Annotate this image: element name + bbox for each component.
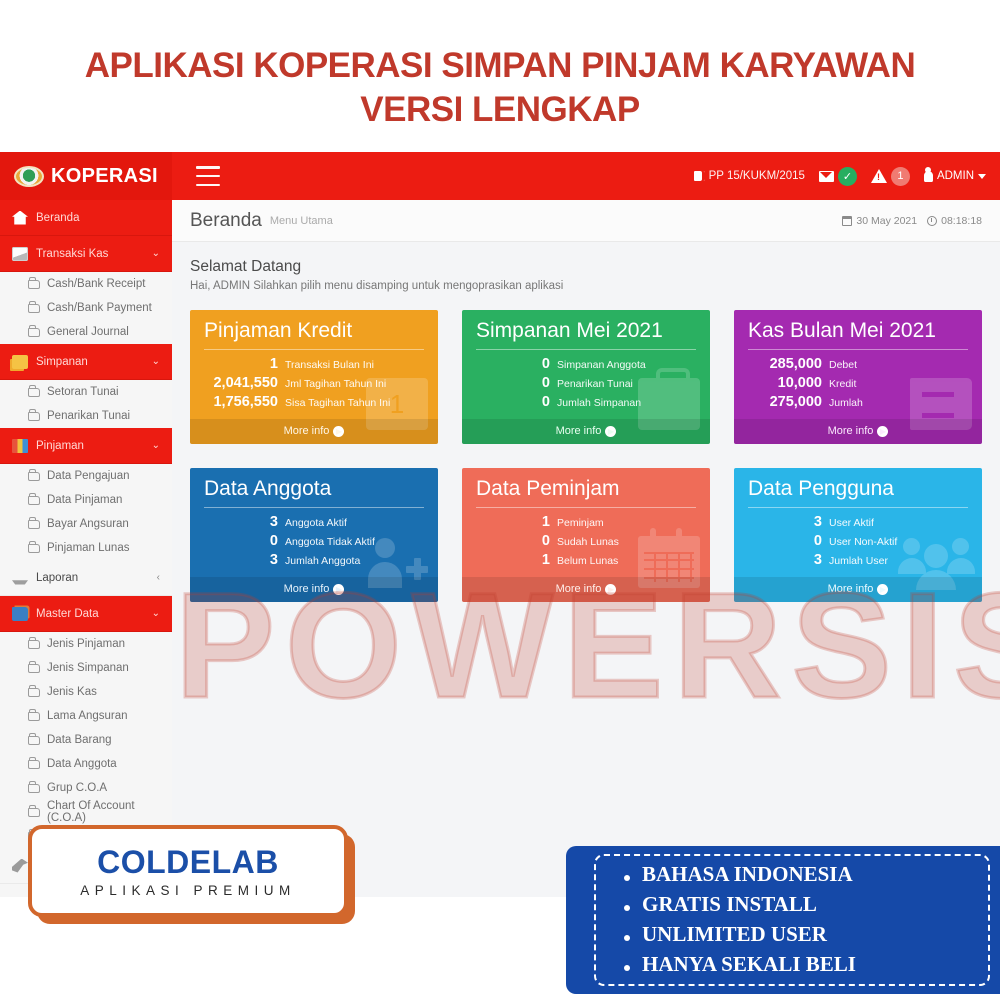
arrow-right-icon: ▶ <box>877 584 888 595</box>
sidebar-item-label: Pinjaman <box>36 440 144 452</box>
folder-icon <box>28 304 40 313</box>
dashboard-card-kas-bulan-mei-2021[interactable]: Kas Bulan Mei 2021285,000Debet10,000Kred… <box>734 310 982 444</box>
message-status-badge: ✓ <box>838 167 857 186</box>
card-more-info-label: More info <box>556 583 602 595</box>
card-stat-label: Sudah Lunas <box>557 536 619 548</box>
sidebar-subitem-data-anggota[interactable]: Data Anggota <box>0 752 172 776</box>
dashboard-card-simpanan-mei-2021[interactable]: Simpanan Mei 20210Simpanan Anggota0Penar… <box>462 310 710 444</box>
report-icon <box>12 571 28 585</box>
card-stat: 0Sudah Lunas <box>476 533 696 549</box>
card-stat-value: 1,756,550 <box>204 394 278 410</box>
card-stat: 10,000Kredit <box>748 375 968 391</box>
card-stat-label: Belum Lunas <box>557 555 618 567</box>
koperasi-logo-icon <box>14 166 44 187</box>
folder-icon <box>28 712 40 721</box>
card-stat-value: 3 <box>748 552 822 568</box>
sidebar-item-label: Laporan <box>36 572 149 584</box>
dashboard-card-pinjaman-kredit[interactable]: Pinjaman Kredit1Transaksi Bulan Ini2,041… <box>190 310 438 444</box>
clock-icon <box>927 216 937 226</box>
card-stat: 0Anggota Tidak Aktif <box>204 533 424 549</box>
sidebar-item-label: Beranda <box>36 212 160 224</box>
date-chip: 30 May 2021 <box>842 215 917 227</box>
card-stat: 1Peminjam <box>476 514 696 530</box>
folder-icon <box>28 412 40 421</box>
sidebar-subitem-label: Cash/Bank Payment <box>47 302 152 314</box>
feature-item: HANYA SEKALI BELI <box>606 950 974 980</box>
card-stat-value: 275,000 <box>748 394 822 410</box>
folder-icon <box>28 520 40 529</box>
sidebar-subitem-jenis-pinjaman[interactable]: Jenis Pinjaman <box>0 632 172 656</box>
cash-register-icon <box>12 247 28 261</box>
feature-label: HANYA SEKALI BELI <box>642 950 856 980</box>
page-title: Beranda <box>190 210 262 232</box>
card-stat: 3User Aktif <box>748 514 968 530</box>
wrench-icon <box>12 859 28 873</box>
sidebar-subitem-pinjaman-lunas[interactable]: Pinjaman Lunas <box>0 536 172 560</box>
sidebar-subitem-label: Data Pinjaman <box>47 494 122 506</box>
sidebar-subitem-label: Pinjaman Lunas <box>47 542 129 554</box>
card-stat-label: Jumlah Simpanan <box>557 397 641 409</box>
promo-headline-line2: VERSI LENGKAP <box>0 88 1000 132</box>
money-bag-icon <box>12 355 28 369</box>
card-stat-value: 0 <box>476 356 550 372</box>
card-stat-value: 0 <box>476 375 550 391</box>
coldelab-badge: COLDELAB APLIKASI PREMIUM <box>28 825 348 917</box>
user-name-label: ADMIN <box>937 170 974 182</box>
card-more-info-label: More info <box>556 425 602 437</box>
sidebar-subitem-label: Lama Angsuran <box>47 710 128 722</box>
chevron-icon: ⌄ <box>152 248 160 259</box>
bullet-icon <box>624 935 630 941</box>
warning-icon <box>871 169 887 183</box>
sidebar-subitem-data-pinjaman[interactable]: Data Pinjaman <box>0 488 172 512</box>
topbar-right-group: PP 15/KUKM/2015 ✓ 1 ADMIN <box>694 152 986 200</box>
sidebar-subitem-label: Jenis Pinjaman <box>47 638 125 650</box>
regulation-label: PP 15/KUKM/2015 <box>709 170 805 182</box>
hamburger-bar <box>196 175 220 178</box>
sidebar-subitem-bayar-angsuran[interactable]: Bayar Angsuran <box>0 512 172 536</box>
envelope-icon <box>819 171 834 182</box>
card-stat: 0User Non-Aktif <box>748 533 968 549</box>
folder-icon <box>28 688 40 697</box>
top-navbar: KOPERASI PP 15/KUKM/2015 ✓ 1 <box>0 152 1000 200</box>
main-content: Beranda Menu Utama 30 May 2021 08:18:18 … <box>172 200 1000 897</box>
card-stat-value: 285,000 <box>748 356 822 372</box>
promo-headline: APLIKASI KOPERASI SIMPAN PINJAM KARYAWAN… <box>0 44 1000 132</box>
features-list: BAHASA INDONESIAGRATIS INSTALLUNLIMITED … <box>606 860 974 979</box>
card-stat-label: User Non-Aktif <box>829 536 897 548</box>
welcome-text: Hai, ADMIN Silahkan pilih menu disamping… <box>190 280 982 292</box>
features-dashed-frame: BAHASA INDONESIAGRATIS INSTALLUNLIMITED … <box>594 854 990 986</box>
sidebar-subitem-label: Setoran Tunai <box>47 386 119 398</box>
card-stat-label: User Aktif <box>829 517 874 529</box>
card-more-info-link[interactable]: More info▶ <box>462 577 710 602</box>
dashboard-cards: Pinjaman Kredit1Transaksi Bulan Ini2,041… <box>172 296 1000 602</box>
welcome-heading: Selamat Datang <box>190 258 982 276</box>
card-stat-value: 0 <box>476 394 550 410</box>
card-stat-label: Jml Tagihan Tahun Ini <box>285 378 386 390</box>
notifications-button[interactable]: 1 <box>871 167 910 186</box>
coldelab-tagline: APLIKASI PREMIUM <box>80 883 296 898</box>
card-title: Pinjaman Kredit <box>204 319 424 350</box>
user-menu[interactable]: ADMIN <box>924 170 986 182</box>
sidebar-item-transaksi-kas[interactable]: Transaksi Kas⌄ <box>0 236 172 272</box>
sidebar-subitem-label: Data Pengajuan <box>47 470 129 482</box>
folder-icon <box>28 664 40 673</box>
poster-root: APLIKASI KOPERASI SIMPAN PINJAM KARYAWAN… <box>0 0 1000 1000</box>
card-stat-label: Kredit <box>829 378 856 390</box>
card-stat-value: 3 <box>204 552 278 568</box>
card-stat-label: Simpanan Anggota <box>557 359 646 371</box>
promo-headline-line1: APLIKASI KOPERASI SIMPAN PINJAM KARYAWAN <box>85 46 915 85</box>
folder-icon <box>28 280 40 289</box>
sidebar-subitem-penarikan-tunai[interactable]: Penarikan Tunai <box>0 404 172 428</box>
card-body: Data Anggota3Anggota Aktif0Anggota Tidak… <box>190 468 438 577</box>
brand-name: KOPERASI <box>51 165 158 188</box>
card-stat-label: Penarikan Tunai <box>557 378 633 390</box>
feature-item: BAHASA INDONESIA <box>606 860 974 890</box>
bullet-icon <box>624 905 630 911</box>
feature-label: GRATIS INSTALL <box>642 890 817 920</box>
sidebar-subitem-label: Chart Of Account (C.O.A) <box>47 800 172 824</box>
sidebar-subitem-data-barang[interactable]: Data Barang <box>0 728 172 752</box>
sidebar-subitem-grup-c-o-a[interactable]: Grup C.O.A <box>0 776 172 800</box>
sidebar-subitem-label: General Journal <box>47 326 129 338</box>
card-more-info-link[interactable]: More info▶ <box>190 419 438 444</box>
card-title: Data Peminjam <box>476 477 696 508</box>
sidebar-item-label: Transaksi Kas <box>36 248 144 260</box>
card-stat-label: Transaksi Bulan Ini <box>285 359 374 371</box>
card-stat-label: Jumlah User <box>829 555 888 567</box>
folder-icon <box>28 784 40 793</box>
time-chip: 08:18:18 <box>927 215 982 227</box>
dashboard-card-data-peminjam[interactable]: Data Peminjam1Peminjam0Sudah Lunas1Belum… <box>462 468 710 602</box>
card-stat: 3Anggota Aktif <box>204 514 424 530</box>
current-time: 08:18:18 <box>941 215 982 227</box>
card-more-info-link[interactable]: More info▶ <box>190 577 438 602</box>
sidebar-item-beranda[interactable]: Beranda <box>0 200 172 236</box>
hamburger-bar <box>196 166 220 169</box>
calendar-icon <box>842 216 852 226</box>
card-more-info-label: More info <box>828 583 874 595</box>
card-title: Kas Bulan Mei 2021 <box>748 319 968 350</box>
sidebar-subitem-cash-bank-receipt[interactable]: Cash/Bank Receipt <box>0 272 172 296</box>
sidebar-subitem-setoran-tunai[interactable]: Setoran Tunai <box>0 380 172 404</box>
sidebar-subitem-jenis-kas[interactable]: Jenis Kas <box>0 680 172 704</box>
bullet-icon <box>624 965 630 971</box>
page-header-meta: 30 May 2021 08:18:18 <box>842 215 982 227</box>
sidebar-subitem-lama-angsuran[interactable]: Lama Angsuran <box>0 704 172 728</box>
sidebar-subitem-label: Jenis Simpanan <box>47 662 129 674</box>
card-title: Data Pengguna <box>748 477 968 508</box>
chevron-icon: ‹ <box>157 572 160 583</box>
feature-item: UNLIMITED USER <box>606 920 974 950</box>
application-window: KOPERASI PP 15/KUKM/2015 ✓ 1 <box>0 152 1000 897</box>
chevron-icon: ⌄ <box>152 356 160 367</box>
loan-icon <box>12 439 28 453</box>
card-stat-value: 0 <box>476 533 550 549</box>
feature-item: GRATIS INSTALL <box>606 890 974 920</box>
folder-icon <box>28 760 40 769</box>
master-folder-icon <box>12 607 28 621</box>
card-stat: 0Jumlah Simpanan <box>476 394 696 410</box>
card-stat-value: 0 <box>748 533 822 549</box>
card-body: Pinjaman Kredit1Transaksi Bulan Ini2,041… <box>190 310 438 419</box>
sidebar-item-master-data[interactable]: Master Data⌄ <box>0 596 172 632</box>
card-stat-value: 0 <box>204 533 278 549</box>
regulation-link[interactable]: PP 15/KUKM/2015 <box>694 170 805 182</box>
card-body: Data Pengguna3User Aktif0User Non-Aktif3… <box>734 468 982 577</box>
card-stat-label: Debet <box>829 359 857 371</box>
folder-icon <box>28 328 40 337</box>
card-stat-label: Anggota Tidak Aktif <box>285 536 375 548</box>
card-stat-label: Jumlah <box>829 397 863 409</box>
card-stat-label: Peminjam <box>557 517 604 529</box>
card-stat: 1Belum Lunas <box>476 552 696 568</box>
card-title: Simpanan Mei 2021 <box>476 319 696 350</box>
sidebar-item-laporan[interactable]: Laporan‹ <box>0 560 172 596</box>
sidebar-subitem-cash-bank-payment[interactable]: Cash/Bank Payment <box>0 296 172 320</box>
card-stat: 3Jumlah User <box>748 552 968 568</box>
feature-label: BAHASA INDONESIA <box>642 860 853 890</box>
brand-logo-area[interactable]: KOPERASI <box>0 152 172 200</box>
card-more-info-link[interactable]: More info▶ <box>734 419 982 444</box>
card-body: Data Peminjam1Peminjam0Sudah Lunas1Belum… <box>462 468 710 577</box>
book-icon <box>694 171 705 181</box>
card-more-info-label: More info <box>284 425 330 437</box>
card-more-info-link[interactable]: More info▶ <box>462 419 710 444</box>
card-stat: 3Jumlah Anggota <box>204 552 424 568</box>
notification-count-badge: 1 <box>891 167 910 186</box>
sidebar-subitem-label: Data Barang <box>47 734 112 746</box>
sidebar-subitem-label: Bayar Angsuran <box>47 518 129 530</box>
card-more-info-label: More info <box>284 583 330 595</box>
sidebar-subitem-jenis-simpanan[interactable]: Jenis Simpanan <box>0 656 172 680</box>
sidebar-toggle-button[interactable] <box>196 166 220 186</box>
sidebar-subitem-label: Penarikan Tunai <box>47 410 130 422</box>
card-stat-value: 2,041,550 <box>204 375 278 391</box>
chevron-icon: ⌄ <box>152 608 160 619</box>
card-stat-value: 1 <box>476 514 550 530</box>
feature-label: UNLIMITED USER <box>642 920 827 950</box>
card-title: Data Anggota <box>204 477 424 508</box>
card-more-info-link[interactable]: More info▶ <box>734 577 982 602</box>
current-date: 30 May 2021 <box>856 215 917 227</box>
sidebar-subitem-label: Jenis Kas <box>47 686 97 698</box>
sidebar-item-simpanan[interactable]: Simpanan⌄ <box>0 344 172 380</box>
arrow-right-icon: ▶ <box>877 426 888 437</box>
folder-icon <box>28 736 40 745</box>
card-stat-value: 1 <box>476 552 550 568</box>
card-body: Kas Bulan Mei 2021285,000Debet10,000Kred… <box>734 310 982 419</box>
arrow-right-icon: ▶ <box>605 584 616 595</box>
card-stat: 0Simpanan Anggota <box>476 356 696 372</box>
card-stat-label: Jumlah Anggota <box>285 555 360 567</box>
sidebar-item-label: Simpanan <box>36 356 144 368</box>
sidebar-subitem-label: Cash/Bank Receipt <box>47 278 145 290</box>
page-subtitle: Menu Utama <box>270 215 333 227</box>
card-body: Simpanan Mei 20210Simpanan Anggota0Penar… <box>462 310 710 419</box>
messages-button[interactable]: ✓ <box>819 167 857 186</box>
folder-icon <box>28 388 40 397</box>
page-header: Beranda Menu Utama 30 May 2021 08:18:18 <box>172 200 1000 242</box>
sidebar-subitem-data-pengajuan[interactable]: Data Pengajuan <box>0 464 172 488</box>
arrow-right-icon: ▶ <box>333 426 344 437</box>
dashboard-card-data-pengguna[interactable]: Data Pengguna3User Aktif0User Non-Aktif3… <box>734 468 982 602</box>
card-stat: 2,041,550Jml Tagihan Tahun Ini <box>204 375 424 391</box>
card-stat: 275,000Jumlah <box>748 394 968 410</box>
card-stat-label: Anggota Aktif <box>285 517 347 529</box>
card-stat: 285,000Debet <box>748 356 968 372</box>
chevron-icon: ⌄ <box>152 440 160 451</box>
features-box: BAHASA INDONESIAGRATIS INSTALLUNLIMITED … <box>566 846 1000 994</box>
folder-icon <box>28 808 40 817</box>
card-stat: 1Transaksi Bulan Ini <box>204 356 424 372</box>
user-icon <box>924 171 933 182</box>
sidebar-subitem-label: Data Anggota <box>47 758 117 770</box>
dashboard-card-data-anggota[interactable]: Data Anggota3Anggota Aktif0Anggota Tidak… <box>190 468 438 602</box>
sidebar-subitem-label: Grup C.O.A <box>47 782 107 794</box>
card-stat-value: 1 <box>204 356 278 372</box>
sidebar-subitem-chart-of-account-c-o-a-[interactable]: Chart Of Account (C.O.A) <box>0 800 172 824</box>
bullet-icon <box>624 875 630 881</box>
welcome-section: Selamat Datang Hai, ADMIN Silahkan pilih… <box>172 242 1000 296</box>
hamburger-bar <box>196 184 220 187</box>
coldelab-name: COLDELAB <box>97 844 279 881</box>
card-stat: 0Penarikan Tunai <box>476 375 696 391</box>
sidebar-item-pinjaman[interactable]: Pinjaman⌄ <box>0 428 172 464</box>
sidebar-nav[interactable]: BerandaTransaksi Kas⌄Cash/Bank ReceiptCa… <box>0 200 172 897</box>
folder-icon <box>28 472 40 481</box>
chevron-down-icon <box>978 174 986 179</box>
home-icon <box>12 211 28 225</box>
arrow-right-icon: ▶ <box>333 584 344 595</box>
arrow-right-icon: ▶ <box>605 426 616 437</box>
card-stat-value: 10,000 <box>748 375 822 391</box>
sidebar-subitem-general-journal[interactable]: General Journal <box>0 320 172 344</box>
card-stat-label: Sisa Tagihan Tahun Ini <box>285 397 390 409</box>
folder-icon <box>28 544 40 553</box>
card-more-info-label: More info <box>828 425 874 437</box>
card-stat: 1,756,550Sisa Tagihan Tahun Ini <box>204 394 424 410</box>
card-stat-value: 3 <box>204 514 278 530</box>
folder-icon <box>28 496 40 505</box>
folder-icon <box>28 640 40 649</box>
card-stat-value: 3 <box>748 514 822 530</box>
sidebar-item-label: Master Data <box>36 608 144 620</box>
